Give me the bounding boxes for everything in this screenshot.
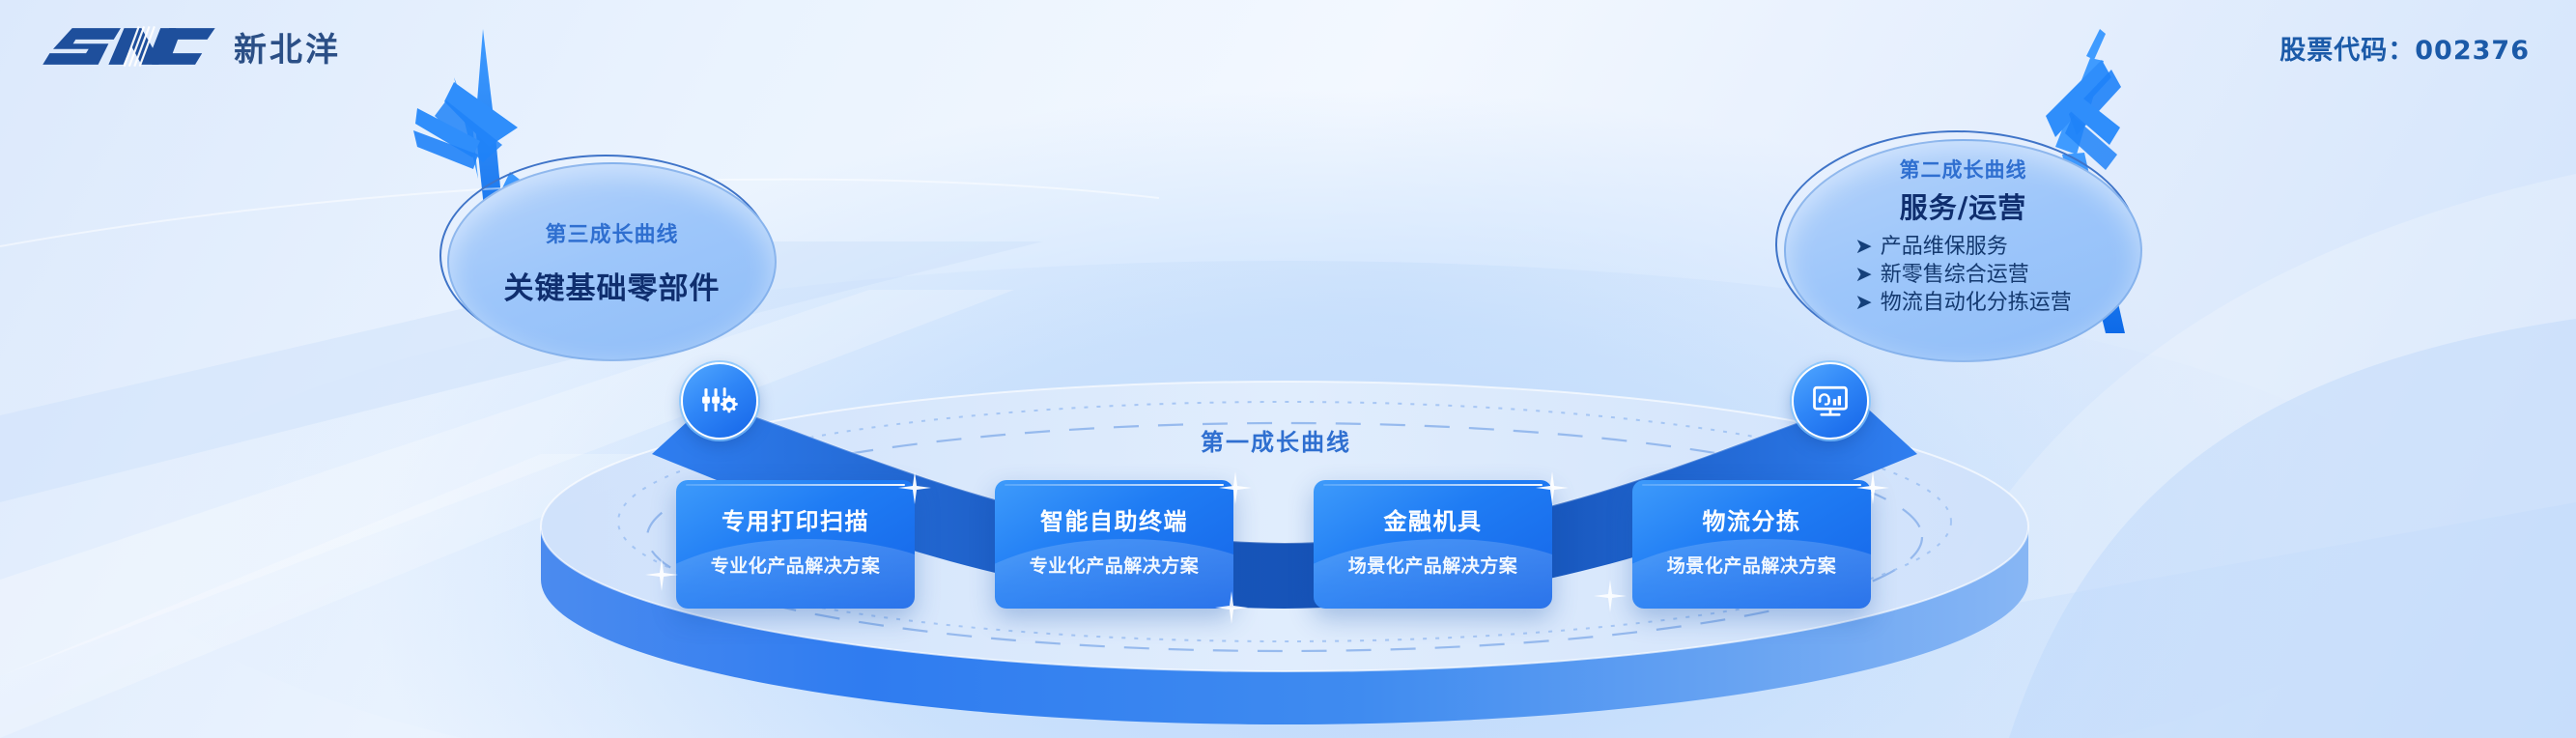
monitor-headset-chart-icon[interactable] — [1792, 362, 1869, 440]
second-curve-item-list: ➤ 产品维保服务 ➤ 新零售综合运营 ➤ 物流自动化分拣运营 — [1854, 233, 2071, 317]
card-title: 专用打印扫描 — [722, 502, 869, 536]
monitor-headset-chart-glyph — [1809, 380, 1852, 422]
stock-code: 股票代码：002376 — [2279, 29, 2530, 67]
product-card[interactable]: 专用打印扫描 专业化产品解决方案 — [676, 480, 915, 609]
card-description: 场景化产品解决方案 — [1348, 552, 1518, 578]
list-item-label: 产品维保服务 — [1881, 233, 2008, 261]
card-top-accent — [1323, 484, 1543, 486]
product-card[interactable]: 物流分拣 场景化产品解决方案 — [1632, 480, 1871, 609]
card-description: 专业化产品解决方案 — [1030, 552, 1200, 578]
bubble-body-left: 第三成长曲线 关键基础零部件 — [447, 162, 777, 361]
list-item: ➤ 新零售综合运营 — [1854, 261, 2071, 289]
background-swooshes — [0, 0, 2576, 738]
components-gear-icon[interactable] — [681, 362, 758, 440]
second-growth-curve-bubble[interactable]: 第二成长曲线 服务/运营 ➤ 产品维保服务 ➤ 新零售综合运营 ➤ 物流自动化分… — [1775, 130, 2142, 362]
bubble-body-right: 第二成长曲线 服务/运营 ➤ 产品维保服务 ➤ 新零售综合运营 ➤ 物流自动化分… — [1784, 139, 2142, 362]
infographic-stage: 新北洋 股票代码：002376 第一成长曲线 第三成长曲线 关键基础零部件 第二… — [0, 0, 2576, 738]
second-curve-subtitle: 第二成长曲线 — [1900, 155, 2027, 184]
bullet-arrow-icon: ➤ — [1854, 261, 1872, 289]
card-top-accent — [1642, 484, 1861, 486]
product-card[interactable]: 金融机具 场景化产品解决方案 — [1314, 480, 1552, 609]
card-title: 金融机具 — [1384, 502, 1483, 536]
first-curve-label: 第一成长曲线 — [1201, 423, 1351, 457]
card-top-accent — [1005, 484, 1224, 486]
components-gear-glyph — [698, 380, 741, 422]
third-curve-subtitle: 第三成长曲线 — [545, 217, 678, 248]
card-title: 物流分拣 — [1703, 502, 1801, 536]
snbc-logo-icon — [37, 21, 220, 71]
brand-logo: 新北洋 — [37, 21, 341, 71]
third-curve-title: 关键基础零部件 — [504, 264, 721, 307]
product-card[interactable]: 智能自助终端 专业化产品解决方案 — [995, 480, 1233, 609]
card-top-accent — [686, 484, 905, 486]
brand-name-cn: 新北洋 — [234, 23, 341, 71]
list-item: ➤ 物流自动化分拣运营 — [1854, 289, 2071, 317]
second-curve-title: 服务/运营 — [1900, 185, 2027, 226]
card-title: 智能自助终端 — [1040, 502, 1188, 536]
list-item: ➤ 产品维保服务 — [1854, 233, 2071, 261]
card-description: 场景化产品解决方案 — [1667, 552, 1837, 578]
list-item-label: 物流自动化分拣运营 — [1881, 289, 2072, 317]
bullet-arrow-icon: ➤ — [1854, 233, 1872, 261]
list-item-label: 新零售综合运营 — [1881, 261, 2029, 289]
third-growth-curve-bubble[interactable]: 第三成长曲线 关键基础零部件 — [439, 155, 773, 357]
card-description: 专业化产品解决方案 — [711, 552, 881, 578]
bullet-arrow-icon: ➤ — [1854, 289, 1872, 317]
